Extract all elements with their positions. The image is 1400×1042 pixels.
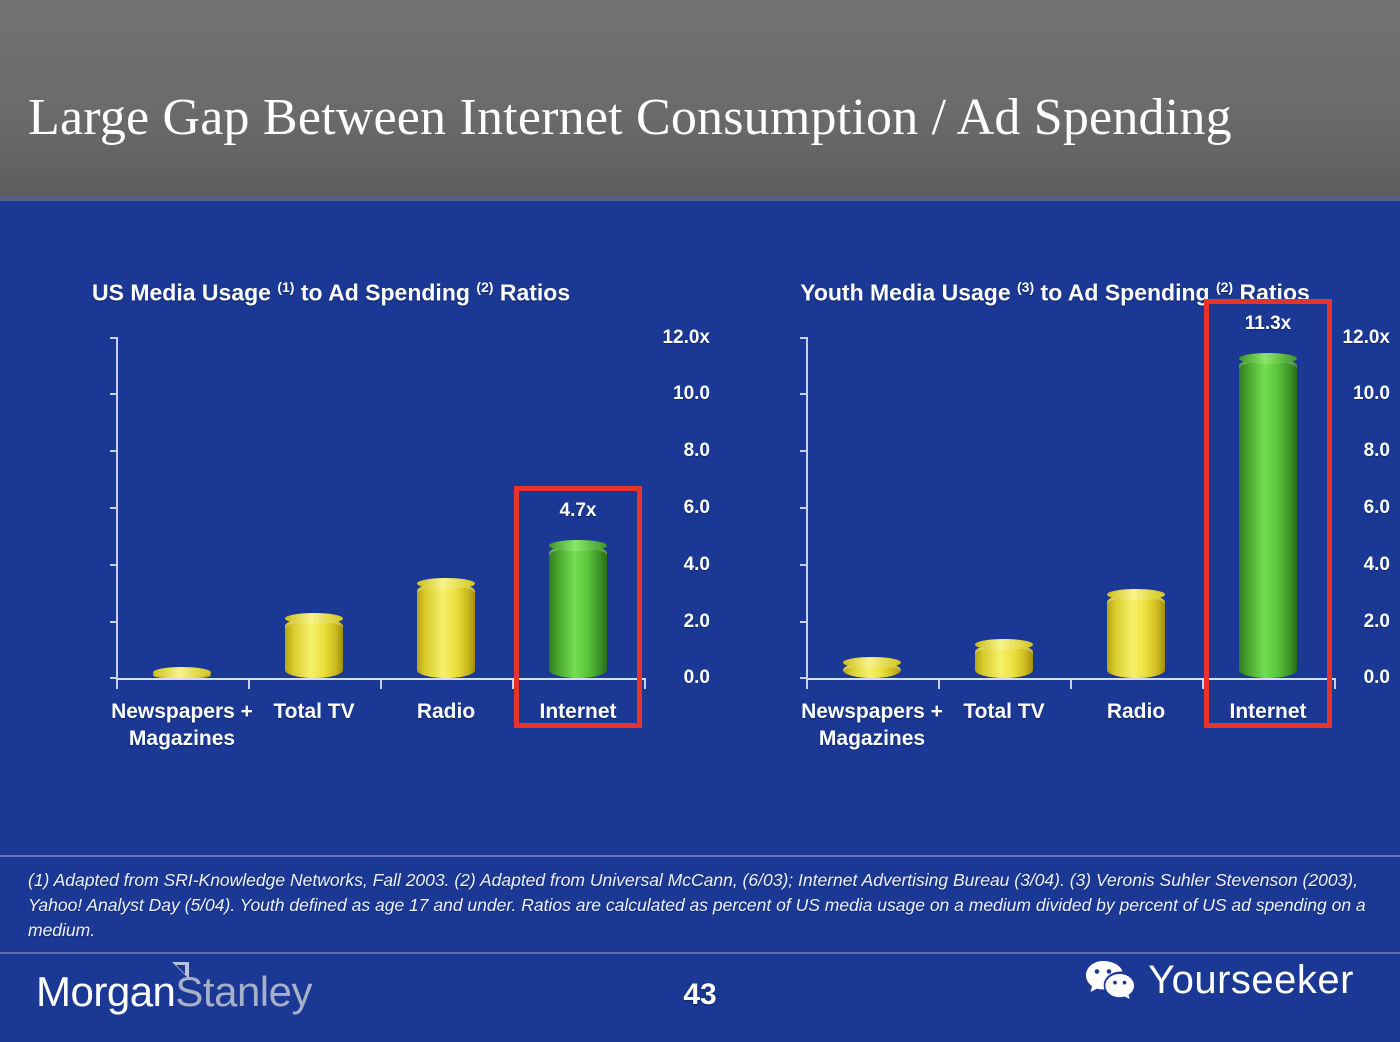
- x-category-text: Newspapers + Magazines: [107, 698, 257, 752]
- y-tick-mark: [110, 337, 118, 339]
- bar-cap: [1107, 589, 1165, 600]
- footnote-divider: [0, 855, 1400, 857]
- chart-panel-us-media: US Media Usage (1) to Ad Spending (2) Ra…: [30, 270, 710, 756]
- bar-group-total-tv: [254, 338, 374, 678]
- chart-title-part-c: Ratios: [493, 280, 570, 306]
- y-tick-label: 6.0: [632, 497, 710, 519]
- y-tick-label: 8.0: [632, 440, 710, 462]
- slide-canvas: Large Gap Between Internet Consumption /…: [0, 0, 1400, 1042]
- x-tick-mark: [116, 680, 118, 689]
- chart-panel-youth-media: Youth Media Usage (3) to Ad Spending (2)…: [720, 270, 1390, 756]
- footnote-ref-2: (2): [476, 279, 493, 295]
- bar-radio: [417, 583, 475, 678]
- watermark: Yourseeker: [1084, 958, 1354, 1003]
- y-tick-mark: [800, 393, 808, 395]
- bar-cap: [975, 639, 1033, 650]
- y-tick-label: 12.0x: [632, 327, 710, 349]
- highlight-box-internet: [514, 486, 642, 728]
- brand-name-second: Stanley: [175, 968, 312, 1015]
- footnote-ref-2: (2): [1216, 279, 1233, 295]
- page-number: 43: [650, 978, 750, 1012]
- bar-cap: [843, 657, 901, 668]
- x-category-label-radio: Radio: [371, 698, 521, 725]
- y-tick-mark: [800, 621, 808, 623]
- bar-total-tv: [285, 618, 343, 678]
- highlight-box-internet: [1204, 299, 1332, 728]
- bar-group-radio: [386, 338, 506, 678]
- bar-chart-us-media: 12.0x 10.0 8.0 6.0 4.0 2.0 0.0: [30, 326, 710, 756]
- x-tick-mark: [644, 680, 646, 689]
- footer-divider: [0, 952, 1400, 954]
- y-tick-mark: [800, 564, 808, 566]
- x-category-label-newspapers: Newspapers + Magazines: [797, 698, 947, 752]
- y-tick-mark: [110, 621, 118, 623]
- bar-group-newspapers: [812, 338, 932, 678]
- chart-title-part-b: to Ad Spending: [1034, 280, 1216, 306]
- x-tick-mark: [380, 680, 382, 689]
- x-category-label-newspapers: Newspapers + Magazines: [107, 698, 257, 752]
- y-tick-mark: [110, 507, 118, 509]
- y-tick-mark: [110, 393, 118, 395]
- x-tick-mark: [938, 680, 940, 689]
- x-tick-mark: [1070, 680, 1072, 689]
- bar-cap: [285, 613, 343, 624]
- morgan-stanley-triangle-inner-icon: [176, 965, 185, 974]
- bar-chart-youth-media: 12.0x 10.0 8.0 6.0 4.0 2.0 0.0: [720, 326, 1390, 756]
- y-tick-mark: [800, 677, 808, 679]
- bar-newspapers-magazines: [843, 662, 901, 678]
- bar-cap: [417, 578, 475, 589]
- bar-group-newspapers: [122, 338, 242, 678]
- bar-newspapers-magazines: [153, 672, 211, 678]
- footnote-ref-3: (3): [1017, 279, 1034, 295]
- y-tick-label: 2.0: [632, 611, 710, 633]
- header-divider: [0, 196, 1400, 201]
- y-tick-mark: [800, 337, 808, 339]
- x-category-label-total-tv: Total TV: [239, 698, 389, 725]
- y-tick-mark: [110, 564, 118, 566]
- x-tick-mark: [806, 680, 808, 689]
- footnote-ref-1: (1): [277, 279, 294, 295]
- x-category-label-total-tv: Total TV: [929, 698, 1079, 725]
- chart-title-us-media: US Media Usage (1) to Ad Spending (2) Ra…: [30, 270, 710, 310]
- footnote-text: (1) Adapted from SRI-Knowledge Networks,…: [28, 868, 1372, 943]
- bar-total-tv: [975, 644, 1033, 678]
- y-tick-mark: [110, 677, 118, 679]
- x-tick-mark: [248, 680, 250, 689]
- y-axis: [116, 338, 118, 680]
- wechat-icon: [1084, 959, 1136, 1003]
- y-tick-label: 10.0: [632, 383, 710, 405]
- chart-title-part-a: US Media Usage: [92, 280, 277, 306]
- chart-title-part-b: to Ad Spending: [294, 280, 476, 306]
- x-tick-mark: [1334, 680, 1336, 689]
- y-tick-mark: [800, 507, 808, 509]
- x-category-label-radio: Radio: [1061, 698, 1211, 725]
- y-tick-label: 4.0: [632, 554, 710, 576]
- bar-group-total-tv: [944, 338, 1064, 678]
- bar-radio: [1107, 594, 1165, 678]
- bar-cap: [153, 667, 211, 678]
- chart-title-part-a: Youth Media Usage: [800, 280, 1017, 306]
- brand-name-first: Morgan: [36, 968, 175, 1015]
- watermark-label: Yourseeker: [1148, 958, 1354, 1003]
- bar-group-radio: [1076, 338, 1196, 678]
- y-tick-mark: [800, 450, 808, 452]
- y-axis: [806, 338, 808, 680]
- x-category-text: Newspapers + Magazines: [797, 698, 947, 752]
- page-title: Large Gap Between Internet Consumption /…: [28, 88, 1378, 147]
- y-tick-mark: [110, 450, 118, 452]
